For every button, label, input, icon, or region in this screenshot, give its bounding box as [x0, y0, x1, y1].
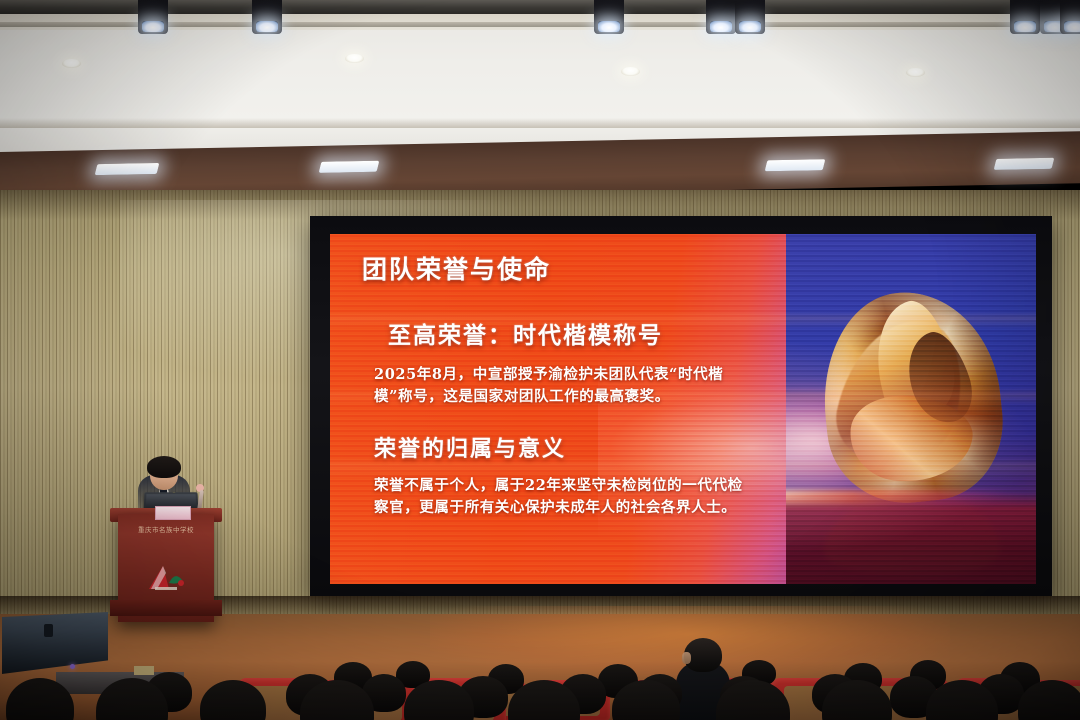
podium-base	[110, 600, 222, 616]
slide-title: 团队荣誉与使命	[362, 250, 798, 286]
soffit-panel-light-icon	[95, 163, 160, 175]
soffit-panel-light-icon	[319, 161, 380, 173]
slide-heading-2: 荣誉的归属与意义	[374, 431, 798, 463]
audience-area	[0, 636, 1080, 720]
slide-text-block: 团队荣誉与使命 至高荣誉：时代楷模称号 2025年8月，中宣部授予渝检护未团队代…	[358, 250, 798, 520]
ceiling-shadow	[0, 118, 1080, 128]
presentation-screen[interactable]: 团队荣誉与使命 至高荣誉：时代楷模称号 2025年8月，中宣部授予渝检护未团队代…	[330, 234, 1036, 584]
ceiling-downlight-icon	[906, 68, 925, 77]
soffit-panel-light-icon	[765, 159, 826, 171]
ceiling-downlight-icon	[621, 67, 640, 76]
slide-paragraph-2: 荣誉不属于个人，属于22年来坚守未检岗位的一代代检察官，更属于所有关心保护未成年…	[374, 475, 756, 520]
stage-spotlight-icon	[1010, 0, 1040, 34]
podium-name-card	[155, 506, 191, 520]
flame-trophy-icon	[824, 292, 1000, 502]
speaker-hair	[147, 456, 181, 478]
auditorium-photo: 团队荣誉与使命 至高荣誉：时代楷模称号 2025年8月，中宣部授予渝检护未团队代…	[0, 0, 1080, 720]
ceiling-downlight-icon	[345, 54, 364, 63]
slide-paragraph-1: 2025年8月，中宣部授予渝检护未团队代表“时代楷模”称号，这是国家对团队工作的…	[374, 364, 756, 409]
audience-head	[6, 678, 74, 720]
stage-spotlight-icon	[594, 0, 624, 34]
soffit-panel-light-icon	[994, 158, 1055, 170]
stage-spotlight-icon	[1060, 0, 1080, 34]
led-screen-bezel: 团队荣誉与使命 至高荣誉：时代楷模称号 2025年8月，中宣部授予渝检护未团队代…	[310, 216, 1052, 596]
slide-trophy-image	[786, 234, 1036, 584]
stage-spotlight-icon	[735, 0, 765, 34]
ceiling-downlight-icon	[62, 59, 81, 68]
trophy-floor	[786, 492, 1036, 584]
stage-spotlight-icon	[706, 0, 736, 34]
audience-face	[682, 652, 691, 664]
stage-spotlight-icon	[138, 0, 168, 34]
stage-spotlight-icon	[252, 0, 282, 34]
school-logo-icon	[147, 563, 187, 591]
slide-heading-1: 至高荣誉：时代楷模称号	[388, 316, 798, 350]
podium-label: 重庆市名族中学校	[120, 524, 212, 534]
